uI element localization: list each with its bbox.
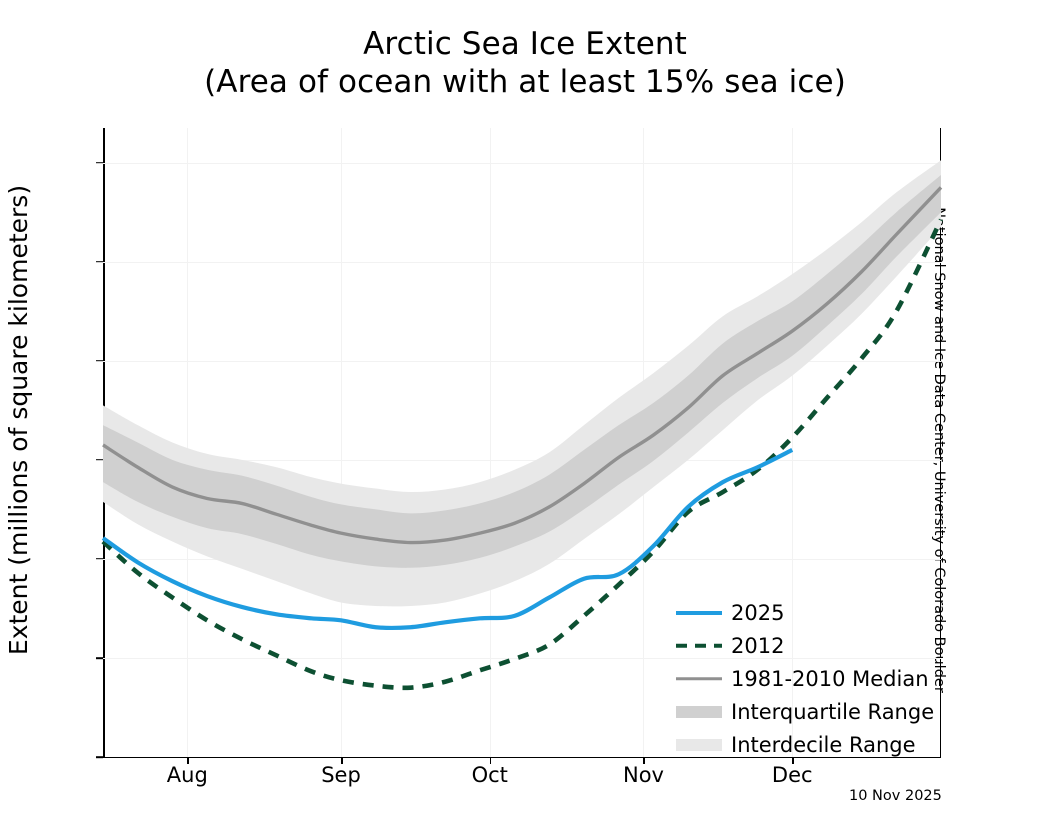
x-axis-tick-label: Sep xyxy=(281,763,401,787)
chart-title: Arctic Sea Ice Extent (Area of ocean wit… xyxy=(0,26,1050,102)
legend-item-median[interactable]: 1981-2010 Median xyxy=(676,662,926,695)
legend-swatch-icon xyxy=(676,602,722,624)
chart-page: Arctic Sea Ice Extent (Area of ocean wit… xyxy=(0,0,1050,840)
legend-swatch-icon xyxy=(676,734,722,756)
legend-label: 2012 xyxy=(731,634,784,658)
y-axis-tick-mark xyxy=(96,756,103,758)
legend-item-interdecile[interactable]: Interdecile Range xyxy=(676,728,926,761)
y-axis-tick-mark xyxy=(96,162,103,164)
legend-item-2025[interactable]: 2025 xyxy=(676,596,926,629)
y-axis-tick-mark xyxy=(96,360,103,362)
legend-swatch-icon xyxy=(676,701,722,723)
legend-label: 1981-2010 Median xyxy=(731,667,929,691)
y-axis-title: Extent (millions of square kilometers) xyxy=(0,0,38,840)
band-interquartile-range xyxy=(103,175,941,568)
legend-label: Interdecile Range xyxy=(731,733,916,757)
x-axis-tick-label: Aug xyxy=(127,763,247,787)
legend-swatch-icon xyxy=(676,668,722,690)
y-axis-tick-mark xyxy=(96,459,103,461)
date-stamp: 10 Nov 2025 xyxy=(849,788,942,804)
chart-title-line2: (Area of ocean with at least 15% sea ice… xyxy=(0,64,1050,102)
x-axis-tick-label: Nov xyxy=(583,763,703,787)
x-axis-tick-label: Oct xyxy=(430,763,550,787)
y-axis-tick-mark xyxy=(96,261,103,263)
legend-label: Interquartile Range xyxy=(731,700,934,724)
legend: 202520121981-2010 MedianInterquartile Ra… xyxy=(676,596,926,761)
legend-label: 2025 xyxy=(731,601,784,625)
legend-item-interquartile[interactable]: Interquartile Range xyxy=(676,695,926,728)
y-axis-tick-mark xyxy=(96,657,103,659)
legend-swatch-icon xyxy=(676,635,722,657)
x-axis-tick-label: Dec xyxy=(732,763,852,787)
chart-title-line1: Arctic Sea Ice Extent xyxy=(0,26,1050,64)
legend-item-2012[interactable]: 2012 xyxy=(676,629,926,662)
y-axis-tick-mark xyxy=(96,558,103,560)
